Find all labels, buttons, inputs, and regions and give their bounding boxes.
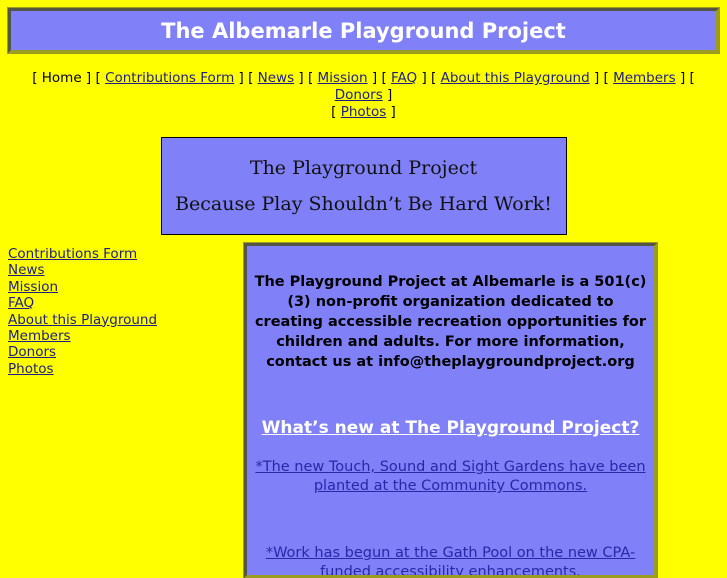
tagline-line-2: Because Play Shouldn’t Be Hard Work! bbox=[175, 193, 552, 215]
page-root: The Albemarle Playground Project [ Home … bbox=[0, 0, 727, 545]
topnav-item-home: Home bbox=[42, 70, 82, 86]
sidebar-item-contributions-form[interactable]: Contributions Form bbox=[8, 246, 228, 262]
tagline-line-1: The Playground Project bbox=[250, 157, 477, 179]
sidebar-item-about-this-playground[interactable]: About this Playground bbox=[8, 312, 228, 328]
top-navigation: [ Home ] [ Contributions Form ] [ News ]… bbox=[8, 70, 719, 121]
sidebar-item-news[interactable]: News bbox=[8, 262, 228, 278]
whats-new-heading: What’s new at The Playground Project? bbox=[252, 418, 649, 438]
sidebar-item-donors[interactable]: Donors bbox=[8, 344, 228, 360]
tagline-wrapper: The Playground Project Because Play Shou… bbox=[8, 137, 719, 235]
tagline-box: The Playground Project Because Play Shou… bbox=[161, 137, 567, 235]
topnav-item-contributions-form[interactable]: Contributions Form bbox=[105, 70, 234, 86]
topnav-item-faq[interactable]: FAQ bbox=[391, 70, 417, 86]
topnav-item-about-this-playground[interactable]: About this Playground bbox=[441, 70, 590, 86]
page-title: The Albemarle Playground Project bbox=[161, 19, 566, 43]
organization-description: The Playground Project at Albemarle is a… bbox=[252, 272, 649, 372]
topnav-items: [ Home ] [ Contributions Form ] [ News ]… bbox=[32, 70, 695, 120]
sidebar-items: Contributions FormNewsMissionFAQAbout th… bbox=[8, 246, 228, 377]
topnav-item-members[interactable]: Members bbox=[613, 70, 676, 86]
news-item: *Work has begun at the Gath Pool on the … bbox=[252, 544, 649, 578]
topnav-item-mission[interactable]: Mission bbox=[318, 70, 368, 86]
sidebar-item-photos[interactable]: Photos bbox=[8, 361, 228, 377]
site-banner: The Albemarle Playground Project bbox=[8, 8, 719, 53]
main-content-panel: The Playground Project at Albemarle is a… bbox=[244, 243, 657, 578]
body-columns: Contributions FormNewsMissionFAQAbout th… bbox=[8, 243, 719, 578]
topnav-item-news[interactable]: News bbox=[258, 70, 294, 86]
sidebar-item-members[interactable]: Members bbox=[8, 328, 228, 344]
sidebar-navigation: Contributions FormNewsMissionFAQAbout th… bbox=[8, 246, 228, 377]
sidebar-item-mission[interactable]: Mission bbox=[8, 279, 228, 295]
topnav-item-donors[interactable]: Donors bbox=[335, 87, 383, 103]
news-item-link[interactable]: *Work has begun at the Gath Pool on the … bbox=[266, 545, 635, 578]
sidebar-item-faq[interactable]: FAQ bbox=[8, 295, 228, 311]
news-item: *The new Touch, Sound and Sight Gardens … bbox=[252, 458, 649, 496]
topnav-item-photos[interactable]: Photos bbox=[341, 104, 387, 120]
news-item-link[interactable]: *The new Touch, Sound and Sight Gardens … bbox=[255, 459, 645, 494]
